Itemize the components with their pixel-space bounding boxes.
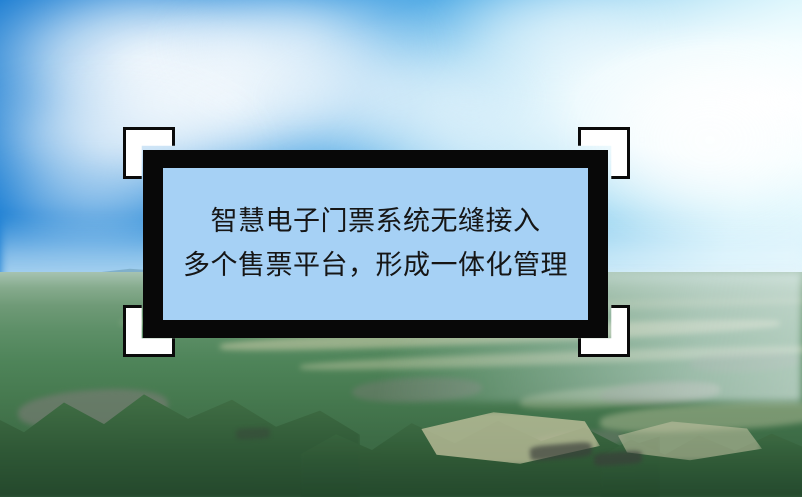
headline-line-2: 多个售票平台，形成一体化管理 — [183, 244, 568, 288]
headline-callout-frame: 智慧电子门票系统无缝接入 多个售票平台，形成一体化管理 — [143, 150, 608, 338]
banner-image: 智慧电子门票系统无缝接入 多个售票平台，形成一体化管理 — [0, 0, 802, 497]
headline-callout-panel: 智慧电子门票系统无缝接入 多个售票平台，形成一体化管理 — [163, 168, 588, 320]
building-structure — [236, 427, 271, 440]
headline-line-1: 智慧电子门票系统无缝接入 — [211, 200, 541, 244]
